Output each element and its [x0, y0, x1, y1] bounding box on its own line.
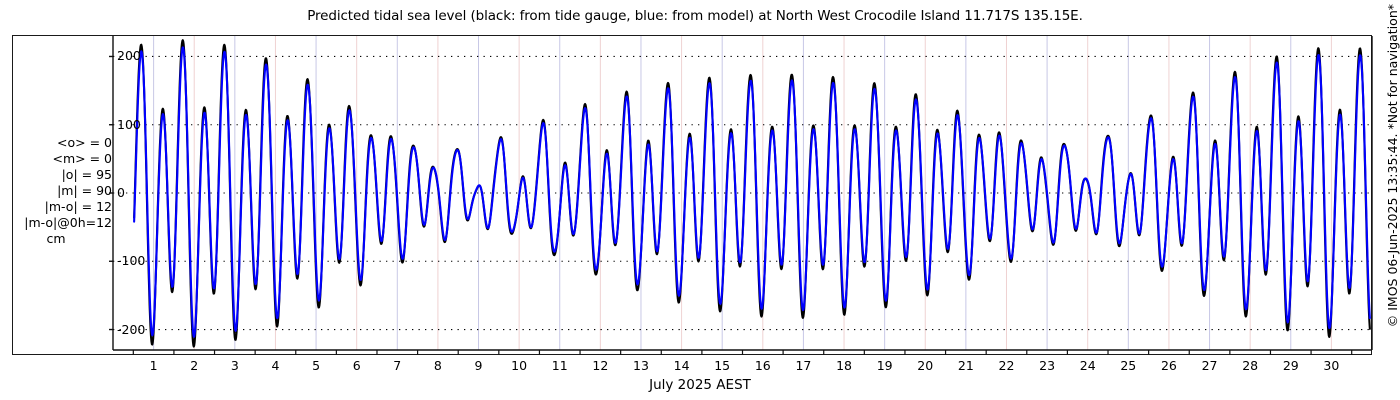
stat-mean-model: <m> = 0 — [14, 151, 112, 167]
y-axis-tick-label: -200 — [117, 322, 145, 337]
x-axis-tick-label: 8 — [423, 358, 453, 373]
y-axis-tick-label: 0 — [117, 185, 125, 200]
x-axis-tick-label: 15 — [707, 358, 737, 373]
stat-mean-observed: <o> = 0 — [14, 135, 112, 151]
stat-units: cm — [14, 231, 112, 247]
stat-abs-model: |m| = 90 — [14, 183, 112, 199]
x-axis-title: July 2025 AEST — [0, 377, 1400, 393]
x-axis-tick-label: 14 — [667, 358, 697, 373]
x-axis-tick-label: 5 — [301, 358, 331, 373]
x-axis-tick-label: 18 — [829, 358, 859, 373]
tidal-chart-page: Predicted tidal sea level (black: from t… — [0, 0, 1400, 400]
x-axis-tick-label: 24 — [1073, 358, 1103, 373]
x-axis-tick-label: 28 — [1235, 358, 1265, 373]
x-axis-tick-label: 22 — [991, 358, 1021, 373]
x-axis-tick-label: 11 — [545, 358, 575, 373]
y-axis-tick-label: 200 — [117, 48, 141, 63]
x-axis-tick-label: 9 — [464, 358, 494, 373]
page-title: Predicted tidal sea level (black: from t… — [0, 8, 1390, 24]
y-axis-tick-label: -100 — [117, 253, 145, 268]
x-axis-tick-label: 19 — [870, 358, 900, 373]
copyright-text: © IMOS 06-Jun-2025 13:35:44. *Not for na… — [1386, 4, 1400, 400]
x-axis-tick-label: 7 — [382, 358, 412, 373]
stat-abs-difference: |m-o| = 12 — [14, 199, 112, 215]
plot-outer-frame — [12, 35, 1372, 355]
stat-abs-difference-0h: |m-o|@0h=12 — [14, 215, 112, 231]
x-axis-tick-label: 29 — [1276, 358, 1306, 373]
x-axis-tick-label: 13 — [626, 358, 656, 373]
x-axis-tick-label: 12 — [585, 358, 615, 373]
statistics-block: <o> = 0 <m> = 0 |o| = 95 |m| = 90 |m-o| … — [14, 135, 112, 247]
stat-abs-observed: |o| = 95 — [14, 167, 112, 183]
x-axis-tick-label: 21 — [951, 358, 981, 373]
x-axis-tick-label: 25 — [1113, 358, 1143, 373]
x-axis-tick-label: 27 — [1195, 358, 1225, 373]
x-axis-tick-label: 2 — [179, 358, 209, 373]
x-axis-tick-label: 20 — [910, 358, 940, 373]
copyright-notice: © IMOS 06-Jun-2025 13:35:44. *Not for na… — [1383, 0, 1400, 400]
x-axis-tick-label: 23 — [1032, 358, 1062, 373]
x-axis-tick-label: 30 — [1316, 358, 1346, 373]
x-axis-tick-label: 6 — [342, 358, 372, 373]
x-axis-tick-label: 3 — [220, 358, 250, 373]
x-axis-tick-label: 4 — [260, 358, 290, 373]
x-axis-tick-label: 10 — [504, 358, 534, 373]
y-axis-tick-label: 100 — [117, 117, 141, 132]
x-axis-tick-label: 26 — [1154, 358, 1184, 373]
x-axis-tick-label: 17 — [788, 358, 818, 373]
x-axis-tick-label: 16 — [748, 358, 778, 373]
x-axis-tick-label: 1 — [139, 358, 169, 373]
